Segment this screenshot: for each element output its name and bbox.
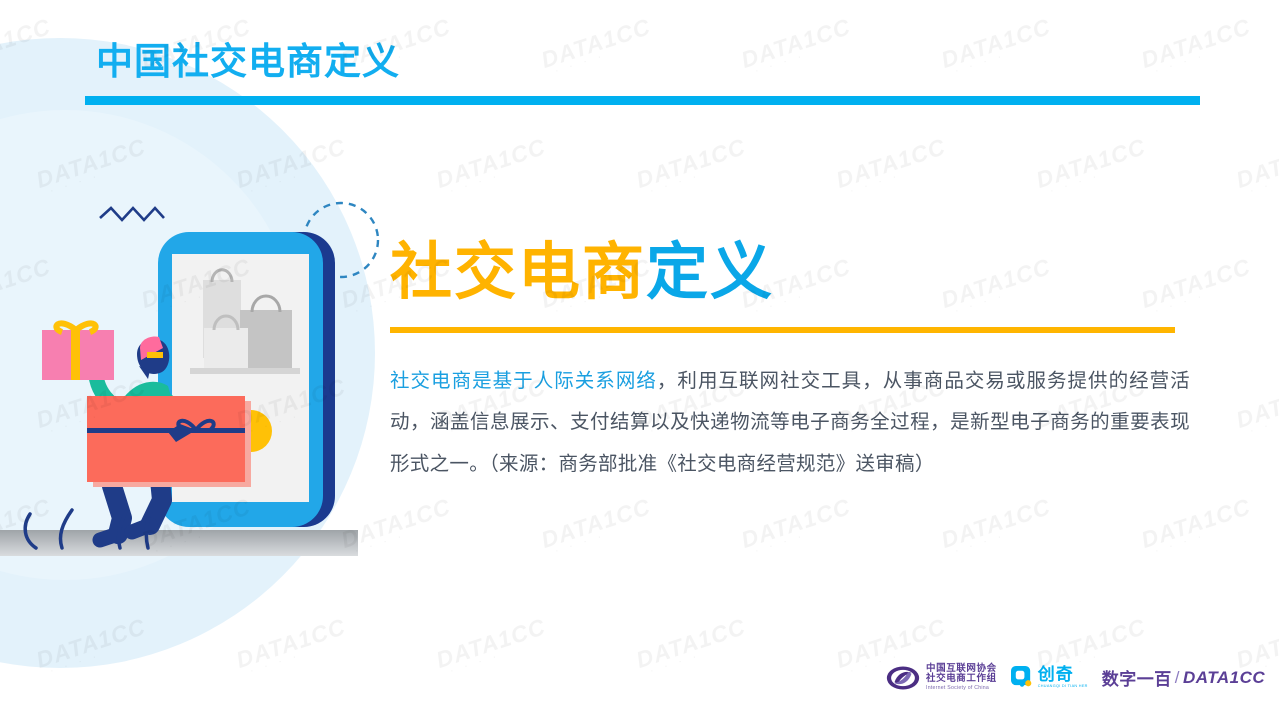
logo-chuangqi: 创奇 CHUANGQI DI TIAN HER xyxy=(1011,666,1088,689)
isc-english: Internet Society of China xyxy=(926,686,997,692)
social-commerce-illustration xyxy=(0,170,380,560)
watermark-text: DATA1CC· · · · xyxy=(233,613,351,679)
isc-line2: 社交电商工作组 xyxy=(926,674,997,684)
watermark-text: DATA1CC· · · · xyxy=(738,13,856,79)
chuangqi-en: CHUANGQI DI TIAN HER xyxy=(1038,685,1088,689)
watermark-text: DATA1CC· · · · xyxy=(538,13,656,79)
chuangqi-mark-icon xyxy=(1011,666,1034,689)
watermark-text: DATA1CC· · · · xyxy=(433,133,551,199)
data100-separator: / xyxy=(1175,668,1180,688)
isc-emblem-icon xyxy=(886,665,920,691)
zigzag-decoration xyxy=(100,208,164,220)
logo-internet-society-of-china: 中国互联网协会 社交电商工作组 Internet Society of Chin… xyxy=(886,664,997,691)
chuangqi-cn: 创奇 xyxy=(1038,666,1088,683)
watermark-text: DATA1CC· · · · xyxy=(433,613,551,679)
main-content: 社交电商定义 社交电商是基于人际关系网络，利用互联网社交工具，从事商品交易或服务… xyxy=(390,240,1200,505)
watermark-text: DATA1CC· · · · xyxy=(633,133,751,199)
watermark-text: DATA1CC· · · · xyxy=(633,613,751,679)
headline-blue: 定义 xyxy=(646,238,774,307)
watermark-text: DATA1CC· · · · xyxy=(1138,13,1256,79)
headline-divider xyxy=(390,327,1175,333)
headline: 社交电商定义 xyxy=(390,240,1200,305)
logo-data100: 数字一百 / DATA1CC xyxy=(1102,665,1265,690)
watermark-text: DATA1CC· · · · xyxy=(1233,133,1279,199)
title-underline-bar xyxy=(85,96,1200,105)
watermark-text: DATA1CC· · · · xyxy=(1233,373,1279,439)
page-title: 中国社交电商定义 xyxy=(96,43,400,80)
definition-paragraph: 社交电商是基于人际关系网络，利用互联网社交工具，从事商品交易或服务提供的经营活动… xyxy=(390,361,1190,485)
data100-latin: DATA1CC xyxy=(1183,668,1265,688)
red-gift-box xyxy=(87,396,245,482)
watermark-text: DATA1CC· · · · xyxy=(938,13,1056,79)
headline-accent: 社交电商 xyxy=(390,238,646,307)
data100-cn: 数字一百 xyxy=(1102,665,1172,690)
slide-canvas: 中国社交电商定义 xyxy=(0,0,1279,719)
definition-highlight: 社交电商是基于人际关系网络 xyxy=(390,370,657,392)
watermark-text: DATA1CC· · · · xyxy=(833,133,951,199)
watermark-text: DATA1CC· · · · xyxy=(1033,133,1151,199)
footer-logos: 中国互联网协会 社交电商工作组 Internet Society of Chin… xyxy=(886,664,1265,691)
